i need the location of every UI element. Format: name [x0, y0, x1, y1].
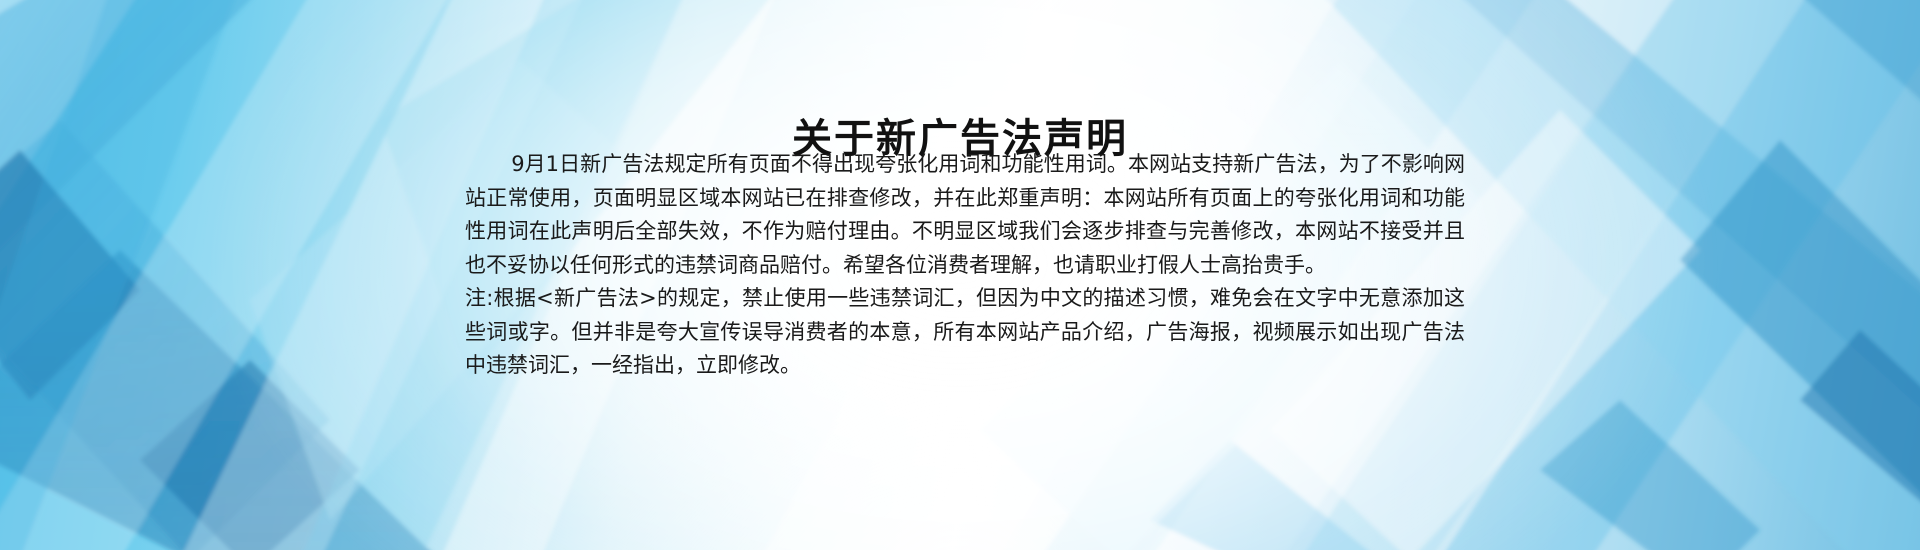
advertising-law-statement-banner: 关于新广告法声明 9月1日新广告法规定所有页面不得出现夸张化用词和功能性用词。本…: [0, 0, 1920, 550]
statement-content: 关于新广告法声明 9月1日新广告法规定所有页面不得出现夸张化用词和功能性用词。本…: [0, 0, 1920, 550]
statement-body: 9月1日新广告法规定所有页面不得出现夸张化用词和功能性用词。本网站支持新广告法，…: [465, 148, 1465, 383]
statement-paragraph-note: 注:根据<新广告法>的规定，禁止使用一些违禁词汇，但因为中文的描述习惯，难免会在…: [465, 282, 1465, 383]
statement-paragraph-main: 9月1日新广告法规定所有页面不得出现夸张化用词和功能性用词。本网站支持新广告法，…: [465, 148, 1465, 282]
